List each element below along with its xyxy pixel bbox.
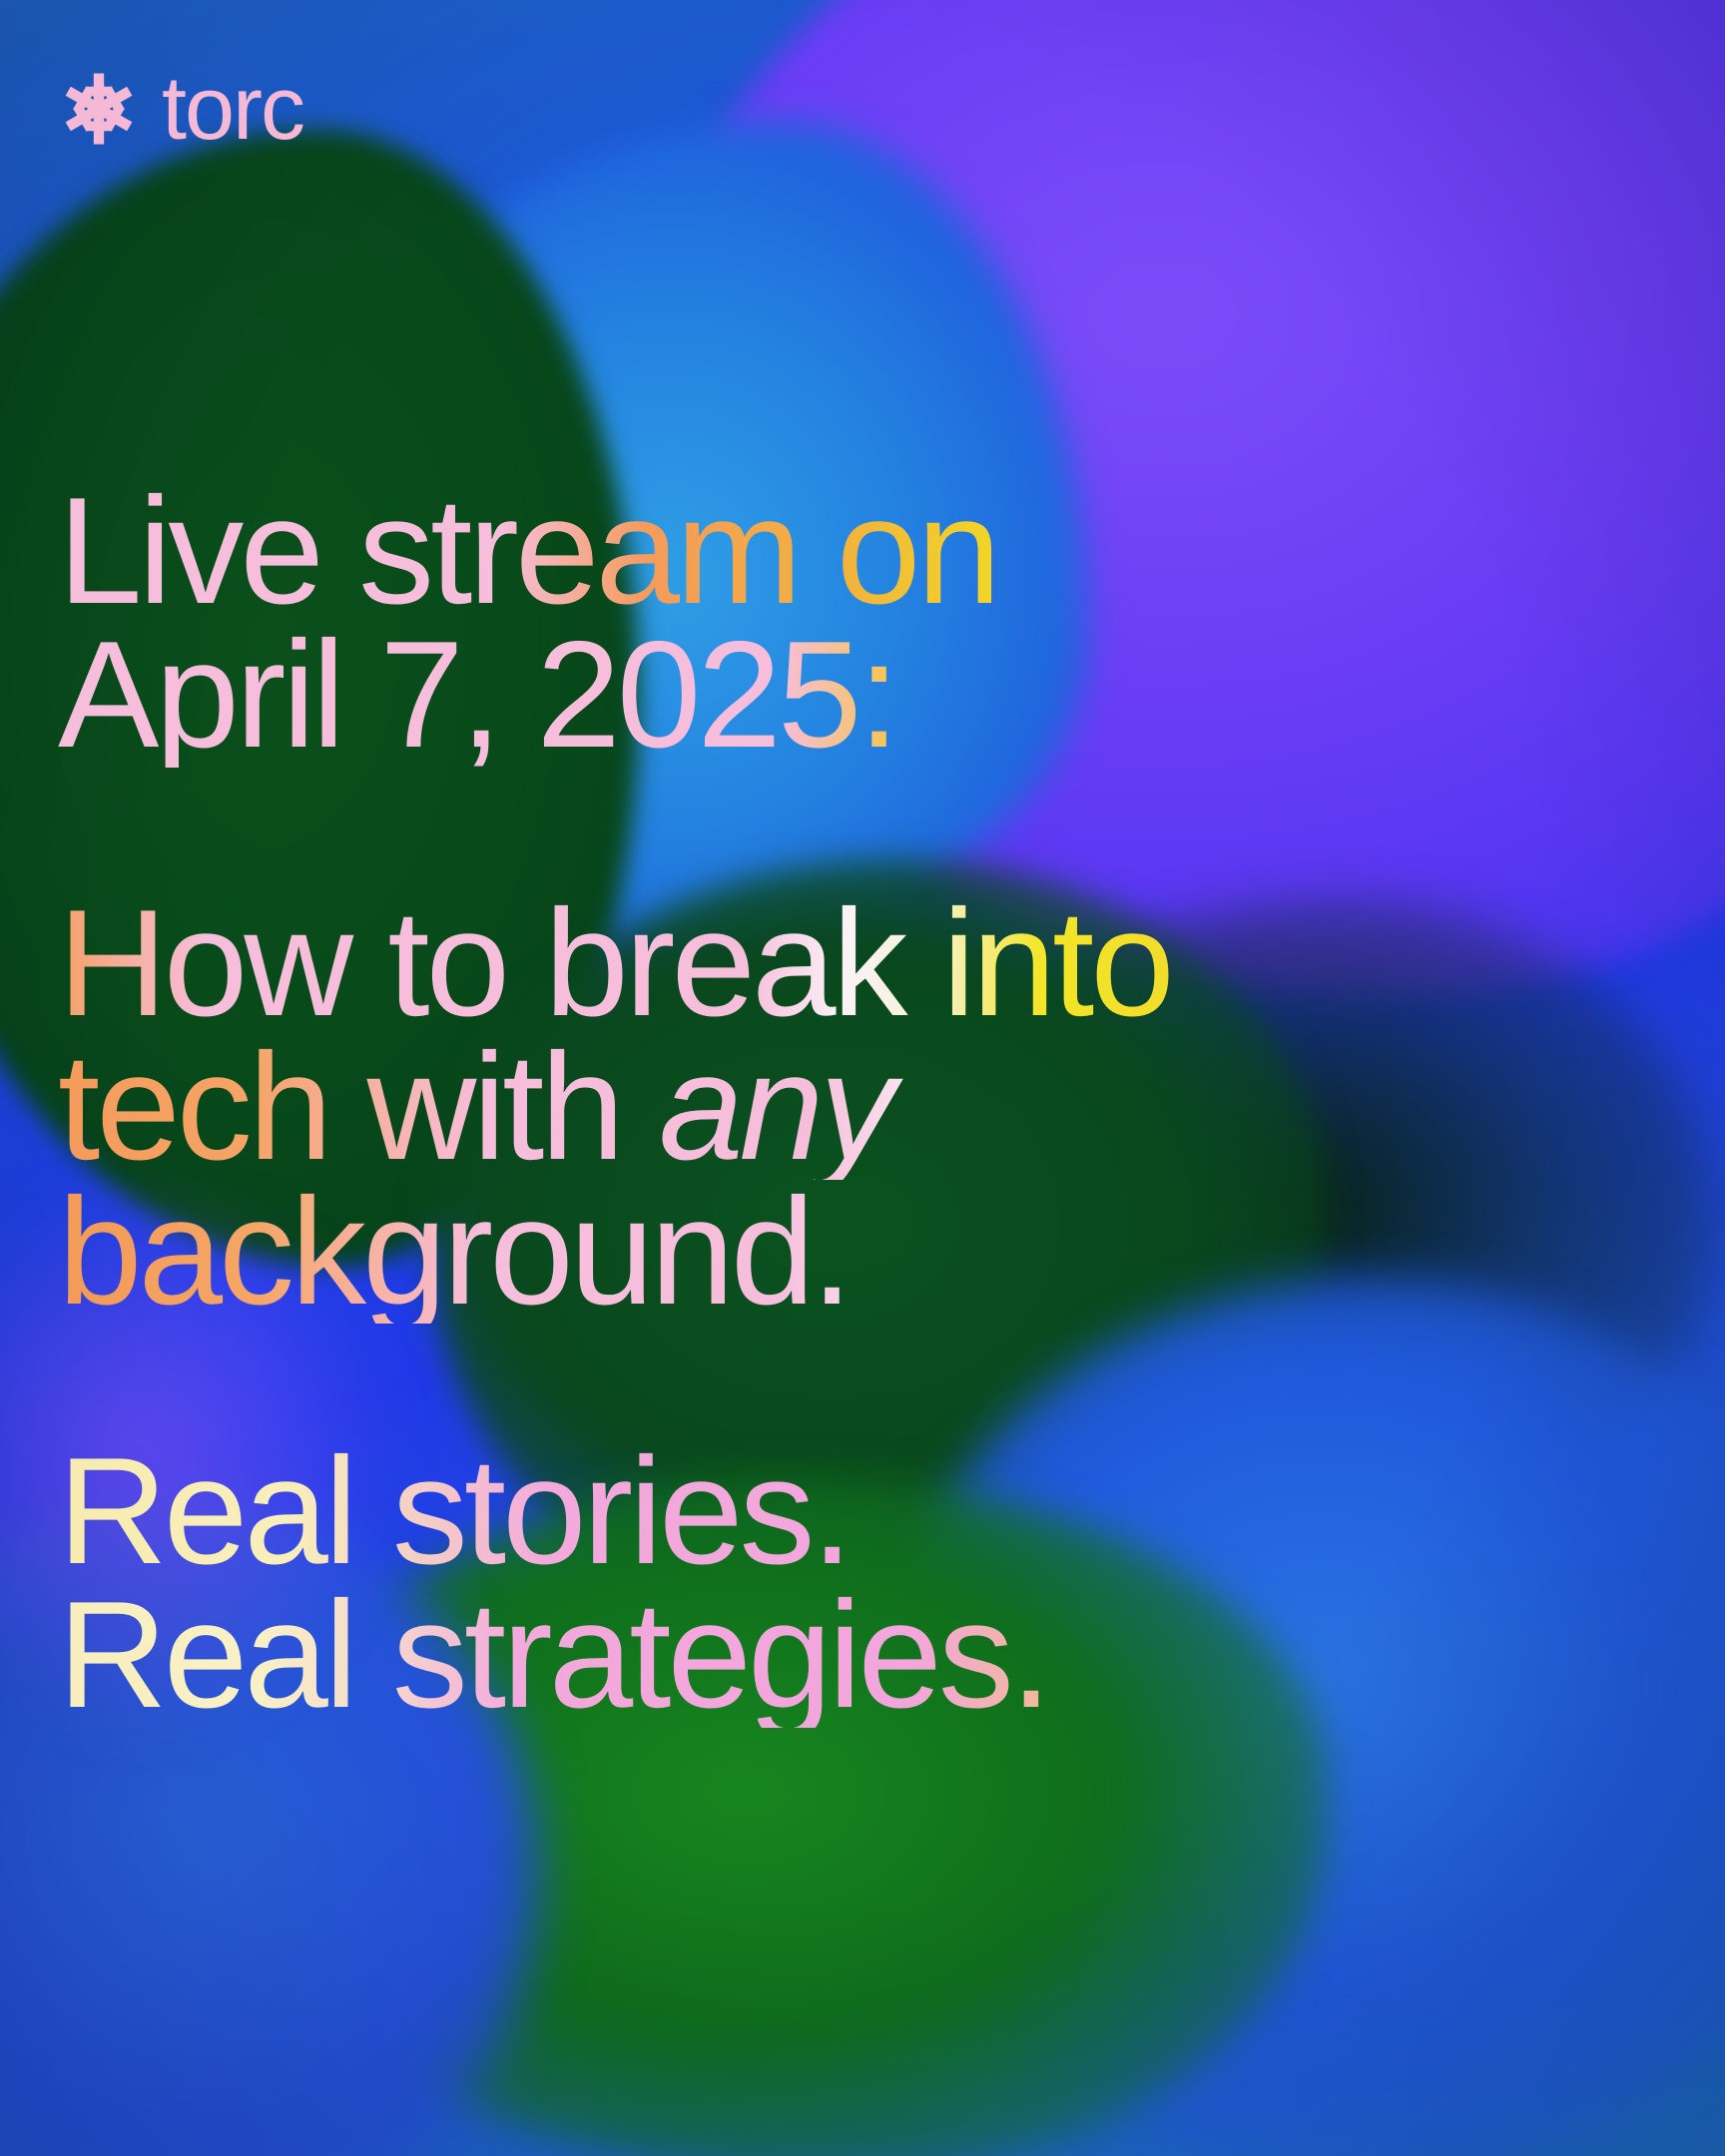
headline-line-3: How to break into bbox=[58, 891, 1695, 1035]
headline-line-4: tech with any bbox=[58, 1035, 1695, 1179]
headline-block-tagline: Real stories. Real strategies. bbox=[58, 1439, 1695, 1728]
headline-line-6: Real stories. bbox=[58, 1439, 1695, 1583]
headline-line-1: Live stream on bbox=[58, 479, 1695, 623]
headline-line-7: Real strategies. bbox=[58, 1583, 1695, 1727]
poster-canvas: torc Live stream on April 7, 2025: How t… bbox=[0, 0, 1725, 2156]
brand-wordmark: torc bbox=[162, 73, 303, 145]
headline-block-title: How to break into tech with any backgrou… bbox=[58, 891, 1695, 1324]
headline-line-2: April 7, 2025: bbox=[58, 623, 1695, 767]
headline-block-event: Live stream on April 7, 2025: bbox=[58, 479, 1695, 768]
spacer-2 bbox=[58, 1324, 1695, 1439]
headline-copy: Live stream on April 7, 2025: How to bre… bbox=[58, 479, 1695, 1728]
brand-logo: torc bbox=[62, 72, 303, 146]
spacer-1 bbox=[58, 768, 1695, 891]
torc-asterisk-icon bbox=[62, 72, 136, 146]
headline-line-5: background. bbox=[58, 1180, 1695, 1324]
